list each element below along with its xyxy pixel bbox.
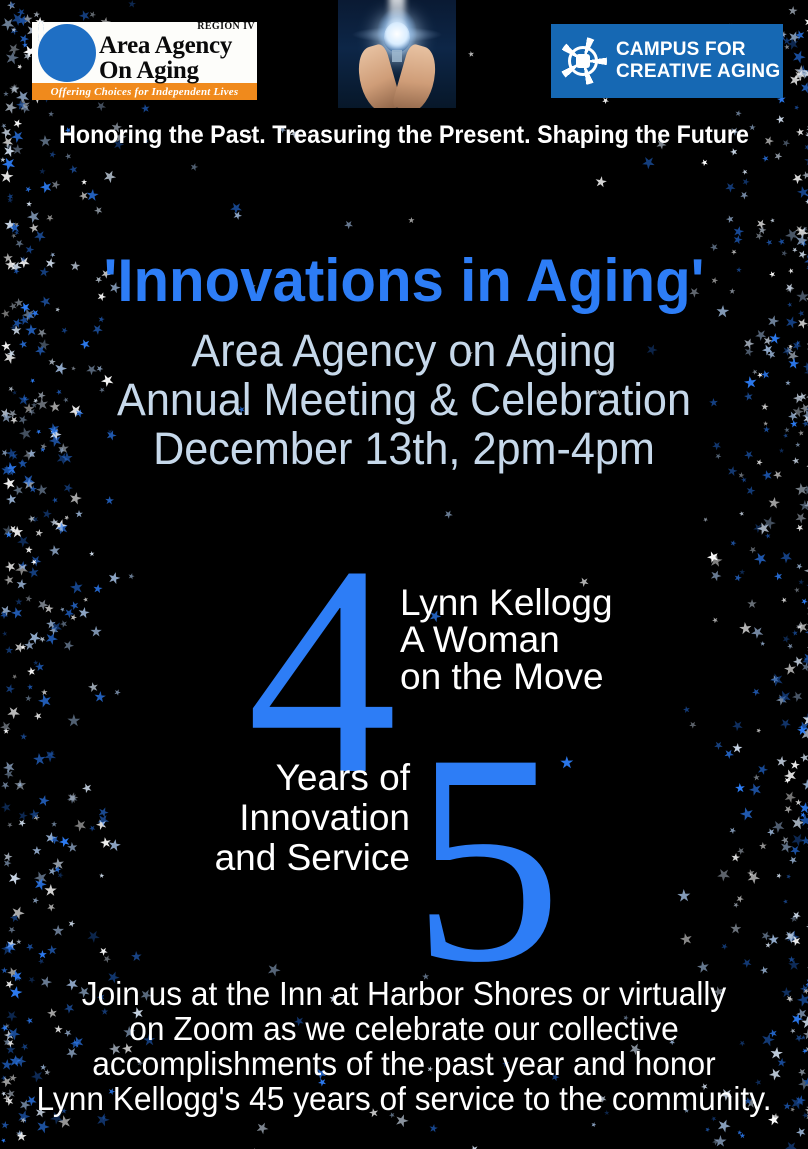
aaa-region-label: REGION IV <box>197 21 255 32</box>
five-point-star-icon <box>6 221 15 230</box>
five-point-star-icon <box>723 180 737 194</box>
lightbulb-base <box>392 50 402 62</box>
five-point-star-icon <box>13 221 20 228</box>
five-point-star-icon <box>795 522 806 533</box>
five-point-star-icon <box>754 230 765 241</box>
five-point-star-icon <box>725 214 735 224</box>
five-point-star-icon <box>741 177 751 187</box>
five-point-star-icon <box>740 476 748 484</box>
poster-canvas: REGION IV Area Agency On Aging Offering … <box>0 0 808 1149</box>
five-point-star-icon <box>97 315 106 324</box>
five-point-star-icon <box>53 518 67 532</box>
campus-for-creative-aging-logo: CAMPUS FOR CREATIVE AGING <box>551 24 783 98</box>
five-point-star-icon <box>14 229 21 236</box>
aaa-logo-wordmark: REGION IV Area Agency On Aging <box>96 22 257 83</box>
five-point-star-icon <box>69 164 79 174</box>
five-point-star-icon <box>51 496 60 505</box>
five-point-star-icon <box>804 154 808 166</box>
area-agency-on-aging-logo: REGION IV Area Agency On Aging Offering … <box>32 22 257 100</box>
cca-logo-line2: CREATIVE AGING <box>616 61 780 83</box>
service-text: Years of Innovation and Service <box>215 758 410 878</box>
five-point-star-icon <box>342 218 355 231</box>
five-point-star-icon <box>0 134 16 150</box>
five-point-star-icon <box>714 1135 727 1148</box>
five-point-star-icon <box>711 1138 719 1146</box>
five-point-star-icon <box>25 208 42 225</box>
five-point-star-icon <box>1 1121 11 1131</box>
five-point-star-icon <box>84 187 101 204</box>
cca-logo-line1: CAMPUS FOR <box>616 39 780 61</box>
five-point-star-icon <box>188 161 200 173</box>
footer-line-2: on Zoom as we celebrate our collective <box>16 1011 792 1046</box>
poster-header: REGION IV Area Agency On Aging Offering … <box>0 0 808 118</box>
five-point-star-icon <box>741 168 749 176</box>
service-line-3: and Service <box>215 838 410 878</box>
five-point-star-icon <box>5 493 17 505</box>
five-point-star-icon <box>34 230 46 242</box>
five-point-star-icon <box>8 524 25 541</box>
five-point-star-icon <box>792 232 808 250</box>
five-point-star-icon <box>17 313 30 326</box>
five-point-star-icon <box>793 223 808 240</box>
five-point-star-icon <box>10 232 18 240</box>
five-point-star-icon <box>37 167 47 177</box>
five-point-star-icon <box>802 498 808 513</box>
five-point-star-icon <box>0 167 17 186</box>
five-point-star-icon <box>762 155 770 163</box>
footer-line-3: accomplishments of the past year and hon… <box>16 1046 792 1081</box>
five-point-star-icon <box>51 180 61 190</box>
five-point-star-icon <box>694 958 712 976</box>
five-point-star-icon <box>732 226 744 238</box>
five-point-star-icon <box>1 122 8 129</box>
five-point-star-icon <box>804 956 808 975</box>
five-point-star-icon <box>6 192 15 201</box>
five-point-star-icon <box>80 178 88 186</box>
five-point-star-icon <box>804 228 808 243</box>
five-point-star-icon <box>36 949 48 961</box>
five-point-star-icon <box>795 512 808 525</box>
five-point-star-icon <box>784 227 800 243</box>
five-point-star-icon <box>739 190 749 200</box>
honoree-text: Lynn Kellogg A Woman on the Move <box>400 584 613 695</box>
five-point-star-icon <box>33 528 44 539</box>
five-point-star-icon <box>803 143 808 152</box>
five-point-star-icon <box>15 1129 24 1138</box>
five-point-star-icon <box>0 143 17 160</box>
five-point-star-icon <box>804 130 808 139</box>
five-point-star-icon <box>757 225 766 234</box>
five-point-star-icon <box>755 217 768 230</box>
five-point-star-icon <box>764 238 773 247</box>
five-point-star-icon <box>0 156 7 164</box>
five-point-star-icon <box>714 1116 733 1135</box>
five-point-star-icon <box>1 967 8 974</box>
five-point-star-icon <box>798 498 808 513</box>
five-point-star-icon <box>5 143 12 150</box>
five-point-star-icon <box>765 941 772 948</box>
five-point-star-icon <box>770 217 777 224</box>
five-point-star-icon <box>804 254 808 267</box>
five-point-star-icon <box>443 510 453 520</box>
five-point-star-icon <box>104 495 115 506</box>
five-point-star-icon <box>803 485 808 495</box>
five-point-star-icon <box>56 522 69 535</box>
five-point-star-icon <box>10 141 26 157</box>
five-point-star-icon <box>752 522 764 534</box>
five-point-star-icon <box>739 1133 745 1139</box>
five-point-star-icon <box>792 480 808 499</box>
five-point-star-icon <box>12 118 23 129</box>
five-point-star-icon <box>800 170 808 182</box>
five-point-star-icon <box>93 205 103 215</box>
five-point-star-icon <box>12 483 25 496</box>
five-point-star-icon <box>796 185 808 198</box>
honoree-line-3: on the Move <box>400 658 613 695</box>
five-point-star-icon <box>129 949 143 963</box>
five-point-star-icon <box>720 942 730 952</box>
five-point-star-icon <box>37 957 44 964</box>
five-point-star-icon <box>794 1126 807 1139</box>
five-point-star-icon <box>25 200 34 209</box>
five-point-star-icon <box>797 249 808 261</box>
aaa-logo-line1: Area Agency <box>99 33 257 58</box>
five-point-star-icon <box>30 514 40 524</box>
five-point-star-icon <box>804 123 808 133</box>
aaa-logo-line2: On Aging <box>99 58 257 83</box>
five-point-star-icon <box>794 126 806 138</box>
five-point-star-icon <box>7 197 15 205</box>
footer-line-4: Lynn Kellogg's 45 years of service to th… <box>16 1081 792 1116</box>
five-point-star-icon <box>101 168 119 186</box>
five-point-star-icon <box>801 226 808 233</box>
five-point-star-icon <box>77 189 90 202</box>
five-point-star-icon <box>40 507 53 520</box>
aaa-logo-tagline: Offering Choices for Independent Lives <box>51 86 239 98</box>
five-point-star-icon <box>63 151 72 160</box>
lightbulb-icon <box>384 22 410 52</box>
aaa-logo-tagline-bar: Offering Choices for Independent Lives <box>32 83 257 100</box>
five-point-star-icon <box>702 516 709 523</box>
subtitle-line-3: December 13th, 2pm-4pm <box>16 424 792 473</box>
five-point-star-icon <box>0 125 14 140</box>
five-point-star-icon <box>1 475 17 491</box>
five-point-star-icon <box>49 517 61 529</box>
five-point-star-icon <box>0 523 16 540</box>
five-point-star-icon <box>3 218 18 233</box>
five-point-star-icon <box>805 198 808 205</box>
five-point-star-icon <box>785 1140 798 1149</box>
five-point-star-icon <box>787 954 797 964</box>
cca-logo-wordmark: CAMPUS FOR CREATIVE AGING <box>616 39 780 83</box>
five-point-star-icon <box>230 201 243 214</box>
poster-title: 'Innovations in Aging' <box>12 248 796 314</box>
swirl-circle-icon <box>38 24 96 82</box>
five-point-star-icon <box>407 216 416 225</box>
five-point-star-icon <box>803 129 808 145</box>
five-point-star-icon <box>63 514 70 521</box>
five-point-star-icon <box>37 179 54 196</box>
five-point-star-icon <box>103 954 112 963</box>
five-point-star-icon <box>1 938 19 956</box>
poster-footer-paragraph: Join us at the Inn at Harbor Shores or v… <box>0 976 808 1116</box>
five-point-star-icon <box>755 521 771 537</box>
five-point-star-icon <box>97 945 108 956</box>
subtitle-line-1: Area Agency on Aging <box>16 326 792 375</box>
five-point-star-icon <box>0 308 11 319</box>
five-point-star-icon <box>790 171 804 185</box>
five-point-star-icon <box>18 1116 27 1125</box>
five-point-star-icon <box>468 1143 480 1149</box>
five-point-star-icon <box>20 472 36 488</box>
five-point-star-icon <box>57 526 63 532</box>
five-point-star-icon <box>799 239 808 249</box>
five-point-star-icon <box>0 154 18 173</box>
five-point-star-icon <box>14 1129 28 1143</box>
subtitle-line-2: Annual Meeting & Celebration <box>16 375 792 424</box>
five-point-star-icon <box>736 1129 743 1136</box>
five-point-star-icon <box>28 485 38 495</box>
five-point-star-icon <box>764 531 772 539</box>
five-point-star-icon <box>773 152 782 161</box>
five-point-star-icon <box>26 514 37 525</box>
five-point-star-icon <box>796 309 805 318</box>
five-point-star-icon <box>232 210 243 221</box>
five-point-star-icon <box>7 220 22 235</box>
five-point-star-icon <box>7 523 18 534</box>
poster-tagline: Honoring the Past. Treasuring the Presen… <box>28 120 779 150</box>
five-point-star-icon <box>428 1123 440 1135</box>
five-point-star-icon <box>732 234 744 246</box>
five-point-star-icon <box>48 151 56 159</box>
poster-subtitle: Area Agency on Aging Annual Meeting & Ce… <box>0 326 808 473</box>
five-point-star-icon <box>61 481 75 495</box>
five-point-star-icon <box>255 1121 269 1135</box>
five-point-star-icon <box>74 509 84 519</box>
five-point-star-icon <box>3 529 13 539</box>
service-line-2: Innovation <box>215 798 410 838</box>
anniversary-block: 4 Lynn Kellogg A Woman on the Move 5 Yea… <box>0 540 808 940</box>
service-line-1: Years of <box>215 758 410 798</box>
five-point-star-icon <box>802 189 808 205</box>
swirl-circle-icon <box>559 37 607 85</box>
five-point-star-icon <box>704 1126 711 1133</box>
five-point-star-icon <box>21 475 38 492</box>
five-point-star-icon <box>786 957 801 972</box>
five-point-star-icon <box>24 185 33 194</box>
five-point-star-icon <box>68 491 82 505</box>
five-point-star-icon <box>759 514 778 533</box>
five-point-star-icon <box>767 496 781 510</box>
aaa-logo-upper: REGION IV Area Agency On Aging <box>32 22 257 83</box>
five-point-star-icon <box>737 510 745 518</box>
five-point-star-icon <box>590 1121 597 1128</box>
five-point-star-icon <box>1 1137 7 1143</box>
five-point-star-icon <box>780 138 791 149</box>
five-point-star-icon <box>740 956 754 970</box>
five-point-star-icon <box>45 212 56 223</box>
five-point-star-icon <box>0 940 17 958</box>
hands-holding-lightbulb-photo <box>338 0 456 108</box>
five-point-star-icon <box>26 943 34 951</box>
five-point-star-icon <box>758 964 770 976</box>
five-point-star-icon <box>10 129 25 144</box>
five-point-star-icon <box>795 289 808 305</box>
five-point-star-icon <box>795 225 804 234</box>
five-point-star-icon <box>595 175 609 189</box>
five-point-star-icon <box>699 158 709 168</box>
five-point-star-icon <box>34 482 50 498</box>
footer-line-1: Join us at the Inn at Harbor Shores or v… <box>16 976 792 1011</box>
five-point-star-icon <box>46 943 60 957</box>
anniversary-digit-5: 5 <box>412 708 562 1008</box>
five-point-star-icon <box>26 221 40 235</box>
five-point-star-icon <box>33 1118 52 1137</box>
five-point-star-icon <box>777 236 786 245</box>
honoree-line-1: Lynn Kellogg <box>400 584 613 621</box>
honoree-line-2: A Woman <box>400 621 613 658</box>
five-point-star-icon <box>639 154 657 172</box>
five-point-star-icon <box>746 486 756 496</box>
